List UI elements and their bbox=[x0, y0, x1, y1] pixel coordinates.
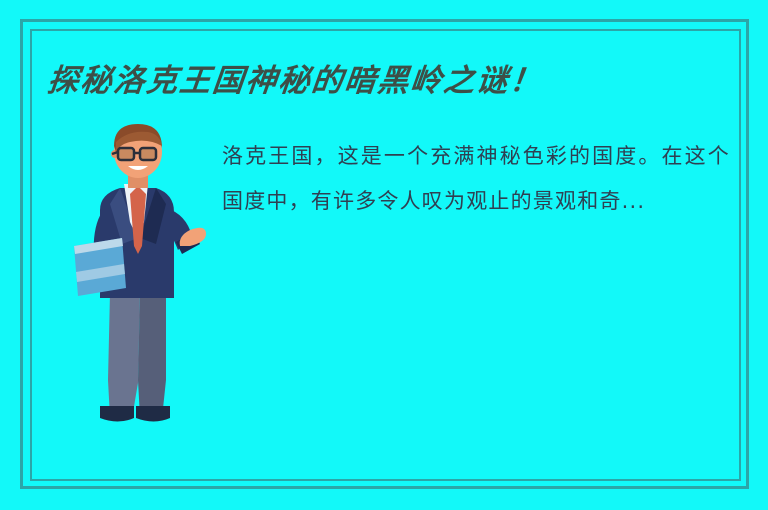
glasses-lens-right bbox=[140, 148, 156, 160]
page-title: 探秘洛克王国神秘的暗黑岭之谜！ bbox=[45, 58, 710, 106]
trouser-right bbox=[138, 293, 166, 418]
shoe-right bbox=[136, 406, 170, 422]
businessman-illustration bbox=[66, 118, 206, 423]
trouser-left bbox=[108, 293, 140, 418]
glasses-lens-left bbox=[118, 148, 134, 160]
article-excerpt: 洛克王国，这是一个充满神秘色彩的国度。在这个国度中，有许多令人叹为观止的景观和奇… bbox=[222, 134, 730, 224]
shoe-left bbox=[100, 406, 134, 422]
article-card: 探秘洛克王国神秘的暗黑岭之谜！ 洛克王国，这是一个充满神秘色彩的国度。在这个国度… bbox=[0, 0, 768, 510]
